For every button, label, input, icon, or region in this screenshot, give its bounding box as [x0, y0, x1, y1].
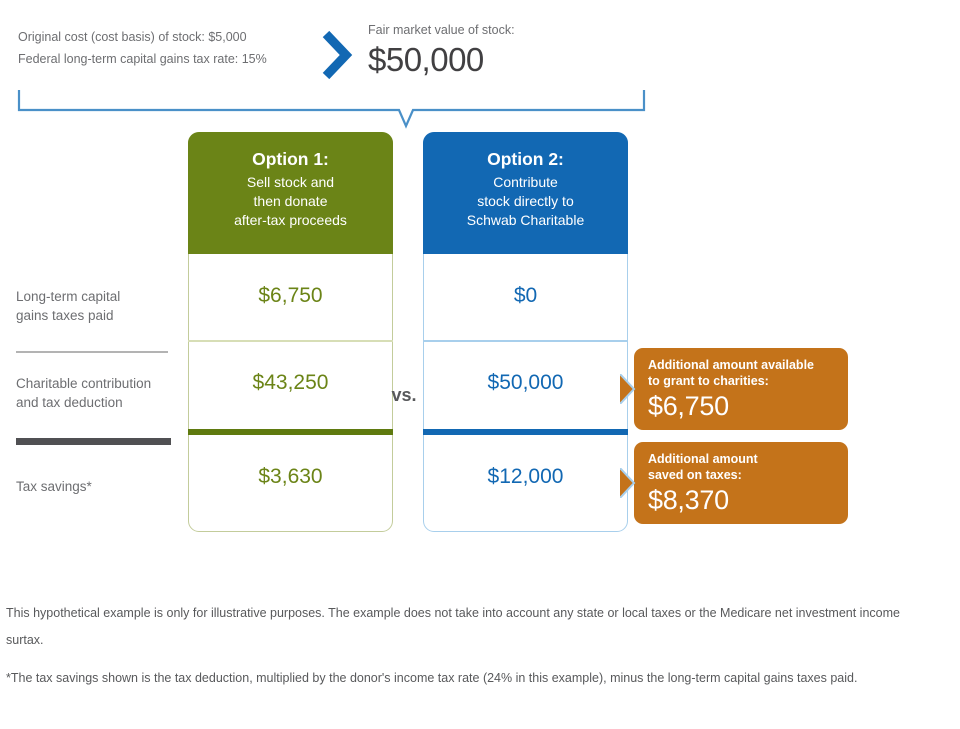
chevron-right-notch-icon	[620, 468, 636, 498]
callout1-label-line2: to grant to charities:	[648, 373, 848, 389]
versus-label: vs.	[387, 385, 421, 406]
fmv-value: $50,000	[368, 40, 628, 80]
row-separator-thick	[16, 438, 171, 445]
option2-value-tax-savings: $12,000	[423, 435, 628, 489]
option2-title: Option 2:	[423, 132, 628, 170]
row-label-charitable-contribution: Charitable contribution and tax deductio…	[16, 374, 151, 412]
callout-additional-tax-savings: Additional amount saved on taxes: $8,370	[634, 442, 848, 524]
option1-cell-capital-gains: $6,750	[188, 254, 393, 341]
row-label-capital-gains-line2: gains taxes paid	[16, 306, 120, 325]
row-label-charitable-line2: and tax deduction	[16, 393, 151, 412]
option1-subtitle: Sell stock and then donate after-tax pro…	[188, 173, 393, 230]
option1-cell-charitable: $43,250	[188, 341, 393, 428]
callout2-value: $8,370	[648, 484, 848, 516]
option1-value-tax-savings: $3,630	[188, 435, 393, 489]
option1-title: Option 1:	[188, 132, 393, 170]
option1-header: Option 1: Sell stock and then donate aft…	[188, 132, 393, 254]
row-label-capital-gains-line1: Long-term capital	[16, 287, 120, 306]
tax-rate-line: Federal long-term capital gains tax rate…	[18, 48, 318, 70]
split-bracket-connector	[12, 88, 652, 134]
option1-subtitle-line1: Sell stock and	[188, 173, 393, 192]
infographic-canvas: Original cost (cost basis) of stock: $5,…	[0, 0, 960, 729]
footnote-disclaimer: This hypothetical example is only for il…	[6, 600, 936, 654]
fair-market-value-block: Fair market value of stock: $50,000	[368, 22, 628, 80]
option2-cell-tax-savings: $12,000	[423, 435, 628, 525]
option2-subtitle: Contribute stock directly to Schwab Char…	[423, 173, 628, 230]
option1-card: Option 1: Sell stock and then donate aft…	[188, 132, 393, 532]
option1-value-capital-gains: $6,750	[188, 254, 393, 308]
callout1-value: $6,750	[648, 390, 848, 422]
callout-additional-grant-amount: Additional amount available to grant to …	[634, 348, 848, 430]
chevron-right-icon	[312, 24, 362, 86]
option1-cell-tax-savings: $3,630	[188, 435, 393, 525]
callout2-label-line2: saved on taxes:	[648, 467, 848, 483]
original-cost-line: Original cost (cost basis) of stock: $5,…	[18, 26, 318, 48]
option2-cell-capital-gains: $0	[423, 254, 628, 341]
callout1-label-line1: Additional amount available	[648, 357, 848, 373]
option2-subtitle-line2: stock directly to	[423, 192, 628, 211]
fmv-label: Fair market value of stock:	[368, 22, 628, 38]
chevron-right-notch-icon	[620, 374, 636, 404]
row-separator-thin	[16, 351, 168, 353]
option2-header: Option 2: Contribute stock directly to S…	[423, 132, 628, 254]
option1-value-charitable: $43,250	[188, 341, 393, 395]
row-label-tax-savings: Tax savings*	[16, 477, 92, 496]
option1-subtitle-line2: then donate	[188, 192, 393, 211]
option2-value-charitable: $50,000	[423, 341, 628, 395]
option2-cell-charitable: $50,000	[423, 341, 628, 428]
option2-subtitle-line1: Contribute	[423, 173, 628, 192]
option2-subtitle-line3: Schwab Charitable	[423, 211, 628, 230]
assumptions-block: Original cost (cost basis) of stock: $5,…	[18, 26, 318, 70]
row-label-capital-gains: Long-term capital gains taxes paid	[16, 287, 120, 325]
option2-card: Option 2: Contribute stock directly to S…	[423, 132, 628, 532]
row-label-charitable-line1: Charitable contribution	[16, 374, 151, 393]
option2-value-capital-gains: $0	[423, 254, 628, 308]
footnote-tax-savings: *The tax savings shown is the tax deduct…	[6, 665, 936, 692]
option1-subtitle-line3: after-tax proceeds	[188, 211, 393, 230]
callout2-label-line1: Additional amount	[648, 451, 848, 467]
